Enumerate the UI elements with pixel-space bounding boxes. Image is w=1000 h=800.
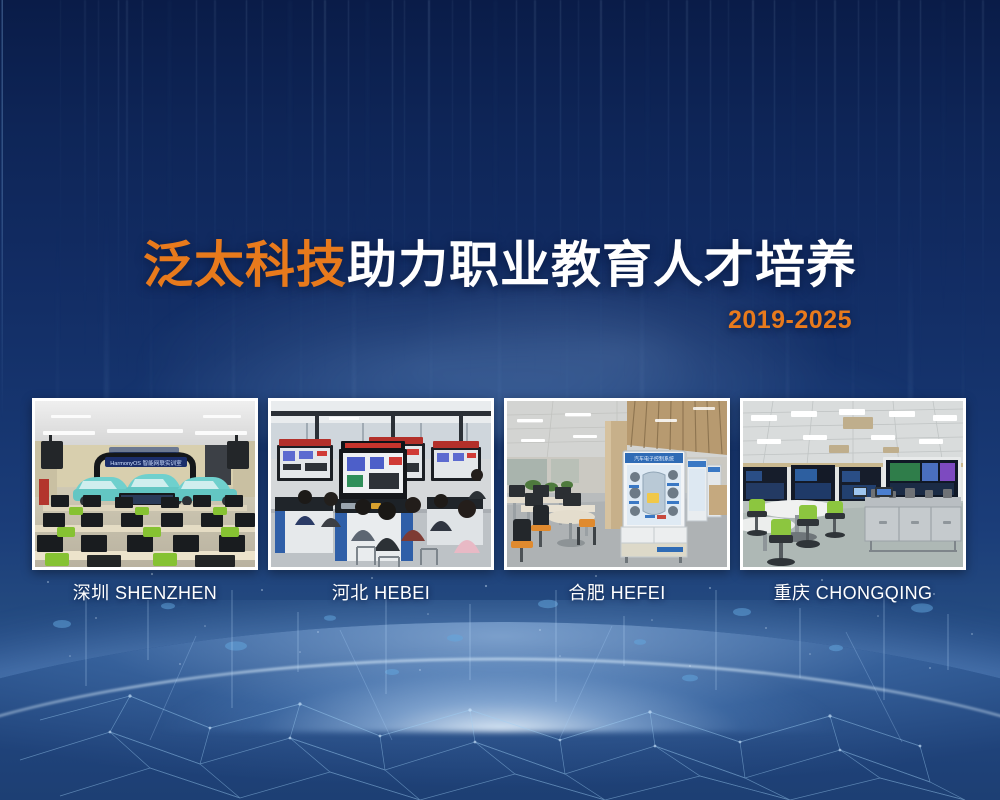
photo-smart-manufacturing-lab <box>743 401 963 567</box>
photo-smart-vehicle-classroom: HarmonyOS 智能网联实训室 <box>35 401 255 567</box>
svg-text:HarmonyOS 智能网联实训室: HarmonyOS 智能网联实训室 <box>110 459 182 467</box>
page-title: 泛太科技助力职业教育人才培养 <box>0 236 1000 294</box>
gallery-card[interactable]: HarmonyOS 智能网联实训室 <box>32 398 258 570</box>
caption-hebei: 河北 HEBEI <box>268 580 494 614</box>
banner-content: 泛太科技助力职业教育人才培养 2019-2025 <box>0 0 1000 800</box>
gallery-card[interactable]: 汽车电子控制系统 <box>504 398 730 570</box>
photo-automotive-display-lab: 汽车电子控制系统 <box>507 401 727 567</box>
year-range: 2019-2025 <box>728 306 852 335</box>
photo-captions: 深圳 SHENZHEN 河北 HEBEI 合肥 HEFEI 重庆 CHONGQI… <box>32 580 968 614</box>
gallery-card[interactable] <box>268 398 494 570</box>
caption-chongqing: 重庆 CHONGQING <box>740 580 966 614</box>
caption-shenzhen: 深圳 SHENZHEN <box>32 580 258 614</box>
banner-stage: 泛太科技助力职业教育人才培养 2019-2025 <box>0 0 1000 800</box>
caption-hefei: 合肥 HEFEI <box>504 580 730 614</box>
title-rest: 助力职业教育人才培养 <box>347 237 857 293</box>
svg-text:汽车电子控制系统: 汽车电子控制系统 <box>634 456 674 463</box>
gallery-card[interactable] <box>740 398 966 570</box>
photo-electrical-training-workshop <box>271 401 491 567</box>
title-brand: 泛太科技 <box>143 237 347 293</box>
photo-gallery: HarmonyOS 智能网联实训室 <box>32 398 968 570</box>
